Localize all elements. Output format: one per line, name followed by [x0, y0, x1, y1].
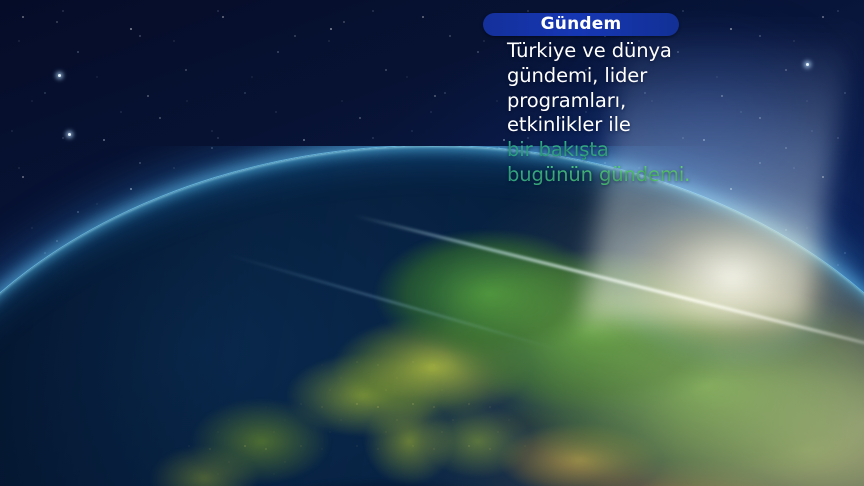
headline-line-1: Türkiye ve dünya — [507, 39, 713, 64]
headline-accent-line-1: bir bakışta — [507, 138, 713, 163]
headline-block: Türkiye ve dünya gündemi, lider programl… — [507, 39, 713, 188]
gundem-badge[interactable]: Gündem — [483, 13, 679, 36]
headline-line-4: etkinlikler ile — [507, 113, 713, 138]
headline-line-3: programları, — [507, 89, 713, 114]
bright-star-icon — [68, 133, 71, 136]
promo-banner: Gündem Türkiye ve dünya gündemi, lider p… — [0, 0, 864, 486]
starfield-background — [0, 0, 864, 486]
headline-line-2: gündemi, lider — [507, 64, 713, 89]
bright-star-icon — [806, 63, 809, 66]
headline-accent-line-2: bugünün gündemi. — [507, 163, 713, 188]
bright-star-icon — [58, 74, 61, 77]
text-panel: Gündem Türkiye ve dünya gündemi, lider p… — [483, 13, 713, 188]
bright-star-icon — [733, 218, 736, 221]
